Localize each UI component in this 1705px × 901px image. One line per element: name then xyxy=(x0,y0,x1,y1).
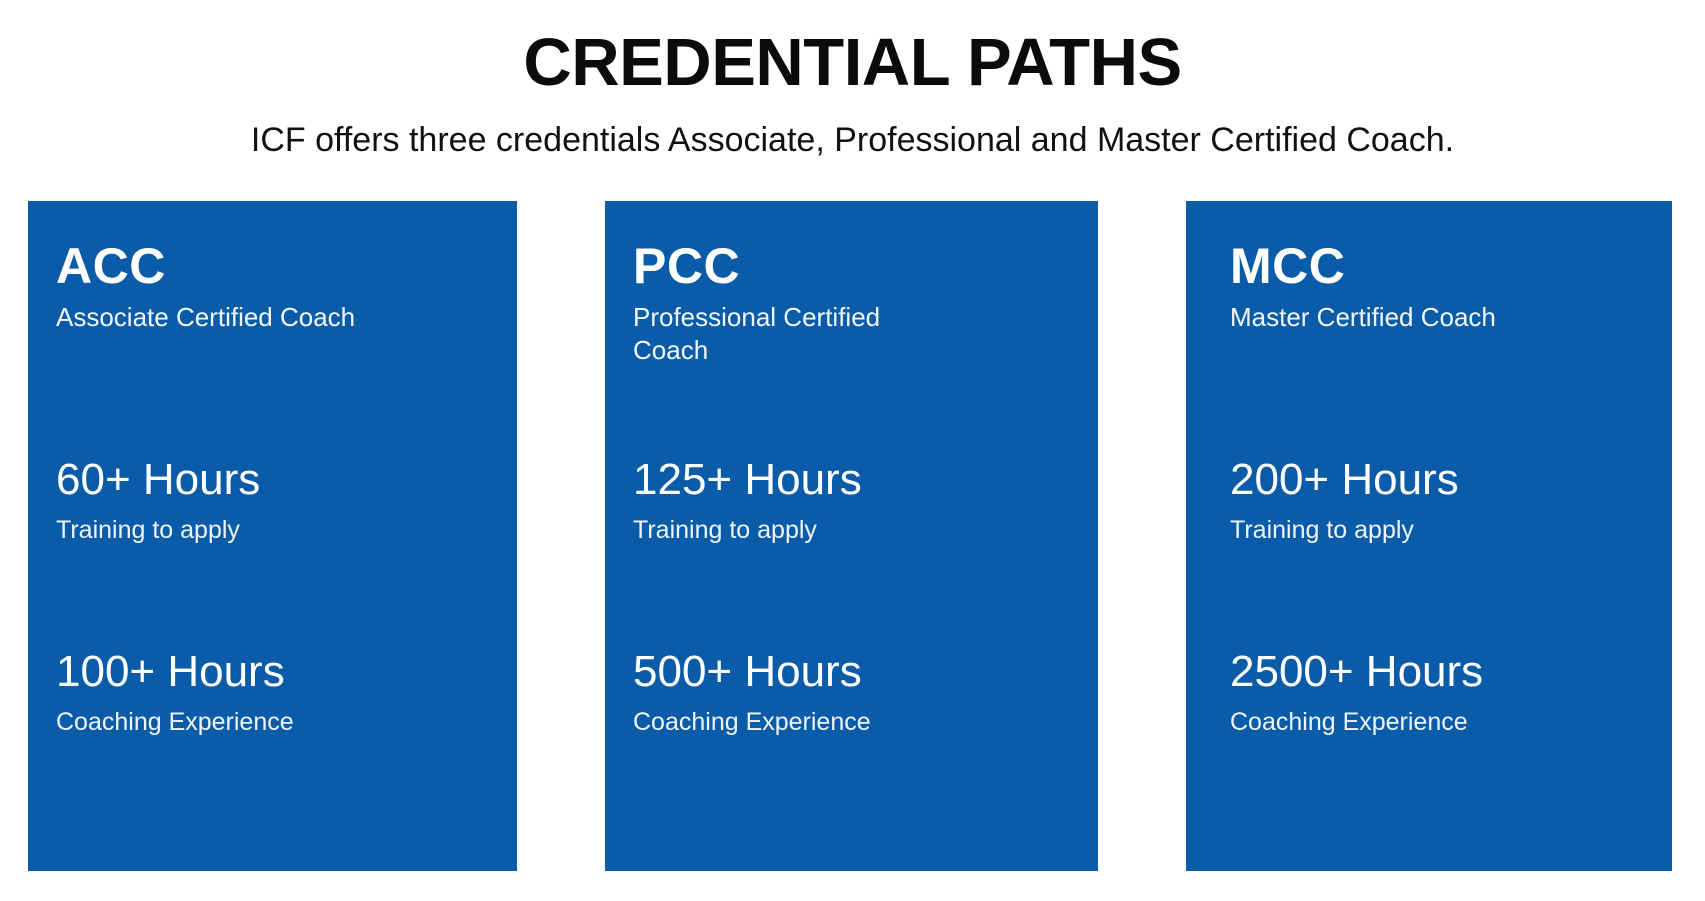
coaching-hours-label: Coaching Experience xyxy=(1230,706,1652,738)
credential-full-name: Professional Certified Coach xyxy=(633,301,933,367)
credential-card-pcc: PCC Professional Certified Coach 125+ Ho… xyxy=(605,201,1098,871)
coaching-hours-value: 500+ Hours xyxy=(633,644,1078,700)
training-hours-label: Training to apply xyxy=(1230,514,1652,546)
credential-full-name: Master Certified Coach xyxy=(1230,301,1630,334)
coaching-hours-value: 100+ Hours xyxy=(56,644,497,700)
coaching-hours-value: 2500+ Hours xyxy=(1230,644,1652,700)
page-subtitle: ICF offers three credentials Associate, … xyxy=(30,116,1675,164)
coaching-hours-label: Coaching Experience xyxy=(633,706,1078,738)
credential-code: PCC xyxy=(633,237,1070,295)
credential-card-acc: ACC Associate Certified Coach 60+ Hours … xyxy=(28,201,517,871)
training-hours-label: Training to apply xyxy=(56,514,497,546)
page-title: CREDENTIAL PATHS xyxy=(0,26,1705,100)
training-requirement: 200+ Hours Training to apply xyxy=(1230,452,1652,546)
coaching-requirement: 2500+ Hours Coaching Experience xyxy=(1230,644,1652,738)
training-hours-label: Training to apply xyxy=(633,514,1078,546)
credential-full-name: Associate Certified Coach xyxy=(56,301,356,334)
training-requirement: 125+ Hours Training to apply xyxy=(633,452,1078,546)
coaching-hours-label: Coaching Experience xyxy=(56,706,497,738)
training-hours-value: 200+ Hours xyxy=(1230,452,1652,508)
credential-code: MCC xyxy=(1230,237,1644,295)
training-hours-value: 125+ Hours xyxy=(633,452,1078,508)
credential-card-mcc: MCC Master Certified Coach 200+ Hours Tr… xyxy=(1186,201,1672,871)
credential-card-list: ACC Associate Certified Coach 60+ Hours … xyxy=(28,201,1672,871)
training-requirement: 60+ Hours Training to apply xyxy=(56,452,497,546)
coaching-requirement: 500+ Hours Coaching Experience xyxy=(633,644,1078,738)
credential-paths-infographic: CREDENTIAL PATHS ICF offers three creden… xyxy=(0,0,1705,901)
coaching-requirement: 100+ Hours Coaching Experience xyxy=(56,644,497,738)
credential-code: ACC xyxy=(56,237,489,295)
training-hours-value: 60+ Hours xyxy=(56,452,497,508)
